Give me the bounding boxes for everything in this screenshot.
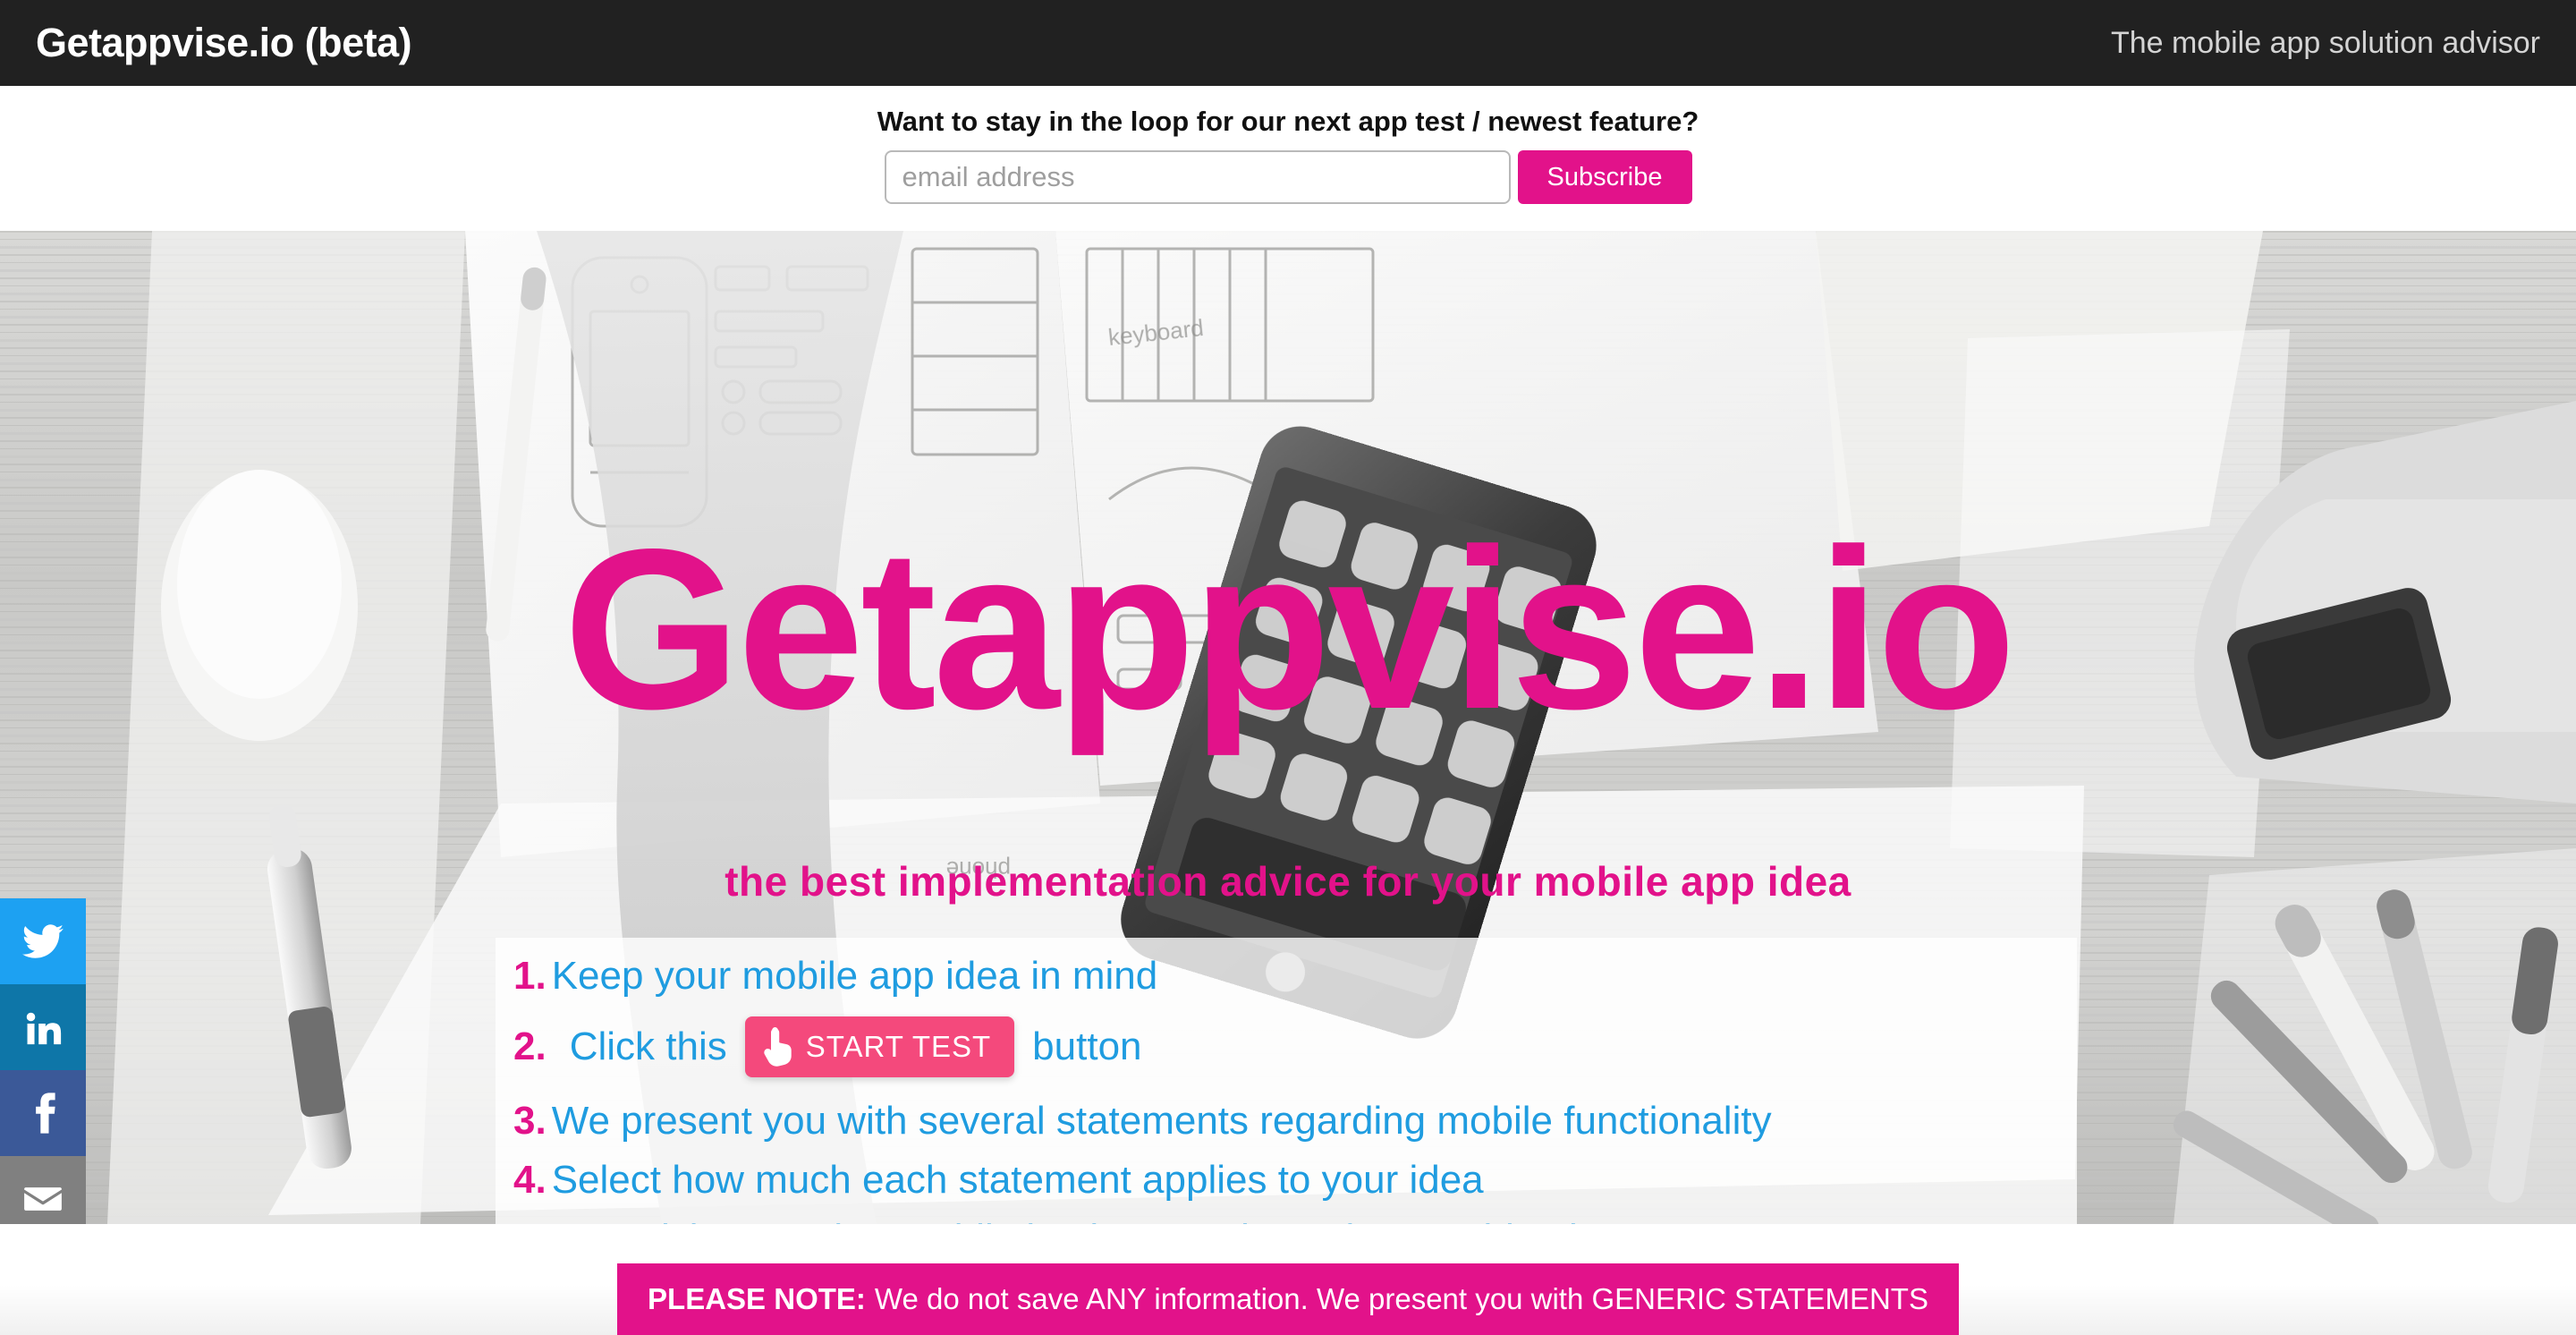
envelope-icon [22, 1178, 64, 1220]
social-share-rail [0, 898, 86, 1224]
step-number: 3. [513, 1099, 547, 1143]
hero-subtitle: the best implementation advice for your … [0, 857, 2576, 906]
please-note-text: We do not save ANY information. We prese… [875, 1282, 1928, 1316]
linkedin-icon [22, 1007, 64, 1048]
step-text-before: Click this [570, 1017, 727, 1076]
step-text: Select how much each statement applies t… [552, 1158, 1484, 1202]
please-note-label: PLEASE NOTE: [648, 1282, 866, 1316]
step-number: 1. [513, 954, 547, 998]
hero-section: keyboard phone lists board [0, 231, 2576, 1224]
step-item-5: 5.Get advice on what mobile implementati… [513, 1210, 2123, 1224]
subscribe-prompt: Want to stay in the loop for our next ap… [877, 106, 1699, 138]
step-item-3: 3.We present you with several statements… [513, 1092, 2123, 1151]
step-item-4: 4.Select how much each statement applies… [513, 1151, 2123, 1210]
social-share-email[interactable] [0, 1156, 86, 1224]
subscribe-section: Want to stay in the loop for our next ap… [0, 86, 2576, 231]
hero-title: Getappvise.io [0, 515, 2576, 744]
step-number: 2. [513, 1017, 547, 1076]
page-root: Getappvise.io (beta) The mobile app solu… [0, 0, 2576, 1335]
step-item-1: 1.Keep your mobile app idea in mind [513, 947, 2123, 1006]
facebook-icon [22, 1093, 64, 1134]
tap-hand-icon [763, 1027, 793, 1067]
step-text: Keep your mobile app idea in mind [552, 954, 1158, 998]
top-header-bar: Getappvise.io (beta) The mobile app solu… [0, 0, 2576, 86]
subscribe-button[interactable]: Subscribe [1518, 150, 1692, 204]
step-text: We present you with several statements r… [552, 1099, 1772, 1143]
social-share-facebook[interactable] [0, 1070, 86, 1156]
email-input[interactable] [885, 150, 1511, 204]
start-test-label: START TEST [806, 1030, 991, 1064]
start-test-button[interactable]: START TEST [745, 1016, 1014, 1077]
step-text-after: button [1032, 1017, 1141, 1076]
step-item-2: 2.Click this START TEST button [513, 1016, 2123, 1077]
social-share-twitter[interactable] [0, 898, 86, 984]
header-tagline: The mobile app solution advisor [2111, 26, 2540, 61]
step-text: Get advice on what mobile implementation… [552, 1217, 1643, 1224]
subscribe-form: Subscribe [885, 150, 1692, 204]
twitter-icon [22, 921, 64, 962]
step-number: 4. [513, 1158, 547, 1202]
brand-title: Getappvise.io (beta) [36, 20, 411, 66]
step-number: 5. [513, 1217, 547, 1224]
social-share-linkedin[interactable] [0, 984, 86, 1070]
steps-list: 1.Keep your mobile app idea in mind 2.Cl… [513, 947, 2123, 1224]
please-note-banner: PLEASE NOTE: We do not save ANY informat… [617, 1263, 1959, 1335]
